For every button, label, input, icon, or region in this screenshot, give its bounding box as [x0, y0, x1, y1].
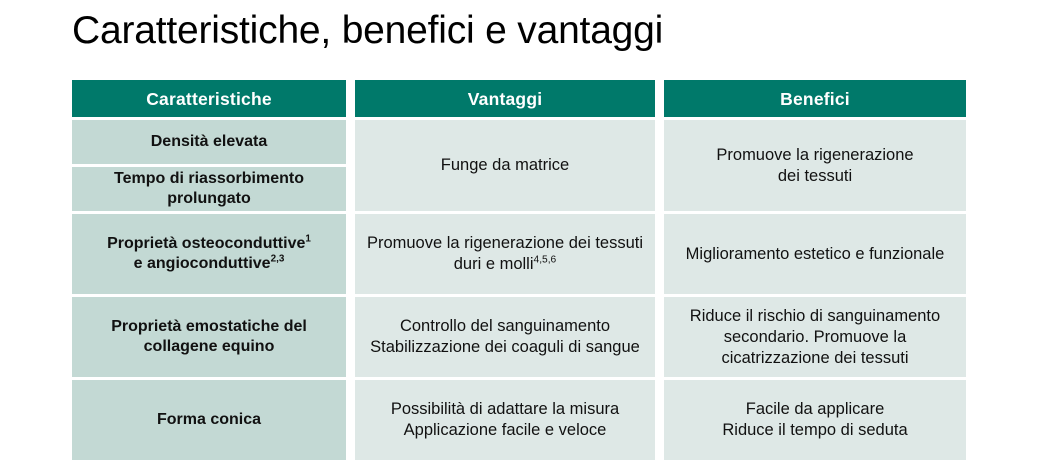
cell-text-segment: duri e molli [454, 255, 534, 273]
table-cell-advantage-4: Possibilità di adattare la misura Applic… [355, 380, 655, 460]
cell-text-line-2: Stabilizzazione dei coaguli di sangue [365, 337, 645, 358]
cell-text: Tempo di riassorbimento prolungato [82, 169, 336, 209]
cell-text: Proprietà osteoconduttive1 e angiocondut… [82, 234, 336, 274]
table-cell-benefit-2: Miglioramento estetico e funzionale [664, 214, 966, 294]
table-cell-feature-3: Proprietà osteoconduttive1 e angiocondut… [72, 214, 346, 294]
table-cell-feature-1: Densità elevata [72, 120, 346, 164]
footnote-marker: 1 [305, 234, 311, 245]
table-cell-feature-2: Tempo di riassorbimento prolungato [72, 167, 346, 211]
table-cell-benefit-4: Facile da applicare Riduce il tempo di s… [664, 380, 966, 460]
cell-text: Promuove la rigenerazione dei tessuti [674, 145, 956, 187]
table-header-label: Vantaggi [365, 89, 645, 109]
cell-text: Facile da applicare Riduce il tempo di s… [674, 399, 956, 441]
table-header-label: Caratteristiche [82, 89, 336, 109]
cell-text-line-2: Riduce il tempo di seduta [674, 420, 956, 441]
table-header-benefici: Benefici [664, 80, 966, 117]
cell-text: Funge da matrice [365, 155, 645, 176]
cell-text-line-3: cicatrizzazione dei tessuti [674, 348, 956, 369]
cell-text-line-1: Riduce il rischio di sanguinamento [674, 306, 956, 327]
cell-text: Miglioramento estetico e funzionale [674, 244, 956, 265]
footnote-marker: 2,3 [271, 254, 285, 265]
table-header-label: Benefici [674, 89, 956, 109]
table-cell-benefit-3: Riduce il rischio di sanguinamento secon… [664, 297, 966, 377]
table-cell-advantage-3: Controllo del sanguinamento Stabilizzazi… [355, 297, 655, 377]
cell-text: Densità elevata [82, 132, 336, 152]
cell-text-line-1: Possibilità di adattare la misura [365, 399, 645, 420]
slide-root: Caratteristiche, benefici e vantaggi Car… [0, 0, 1037, 460]
cell-text-line-2: e angioconduttive2,3 [82, 254, 336, 274]
cell-text-line-1: Promuove la rigenerazione dei tessuti [365, 233, 645, 254]
features-benefits-table: Caratteristiche Vantaggi Benefici Densit… [72, 80, 966, 448]
cell-text-segment: e angioconduttive [134, 255, 271, 272]
cell-text: Promuove la rigenerazione dei tessuti du… [365, 233, 645, 275]
cell-text-line-1: Facile da applicare [674, 399, 956, 420]
cell-text-line-1: Proprietà osteoconduttive1 [82, 234, 336, 254]
cell-text-line-2: dei tessuti [674, 166, 956, 187]
cell-text: Forma conica [82, 410, 336, 430]
cell-text-line-1: Proprietà emostatiche del [82, 317, 336, 337]
cell-text: Proprietà emostatiche del collagene equi… [82, 317, 336, 357]
table-cell-benefit-1: Promuove la rigenerazione dei tessuti [664, 120, 966, 211]
cell-text-line-2: Applicazione facile e veloce [365, 420, 645, 441]
cell-text-line-2: secondario. Promuove la [674, 327, 956, 348]
table-cell-feature-5: Forma conica [72, 380, 346, 460]
table-cell-advantage-2: Promuove la rigenerazione dei tessuti du… [355, 214, 655, 294]
cell-text-line-1: Controllo del sanguinamento [365, 316, 645, 337]
cell-text-segment: Proprietà osteoconduttive [107, 235, 305, 252]
cell-text: Controllo del sanguinamento Stabilizzazi… [365, 316, 645, 358]
cell-text: Possibilità di adattare la misura Applic… [365, 399, 645, 441]
cell-text: Riduce il rischio di sanguinamento secon… [674, 306, 956, 369]
table-header-vantaggi: Vantaggi [355, 80, 655, 117]
cell-text-line-2: duri e molli4,5,6 [365, 254, 645, 275]
table-header-caratteristiche: Caratteristiche [72, 80, 346, 117]
cell-text-line-2: collagene equino [82, 337, 336, 357]
page-title: Caratteristiche, benefici e vantaggi [72, 8, 663, 54]
footnote-marker: 4,5,6 [534, 255, 557, 266]
table-cell-advantage-1: Funge da matrice [355, 120, 655, 211]
table-cell-feature-4: Proprietà emostatiche del collagene equi… [72, 297, 346, 377]
cell-text-line-1: Promuove la rigenerazione [674, 145, 956, 166]
